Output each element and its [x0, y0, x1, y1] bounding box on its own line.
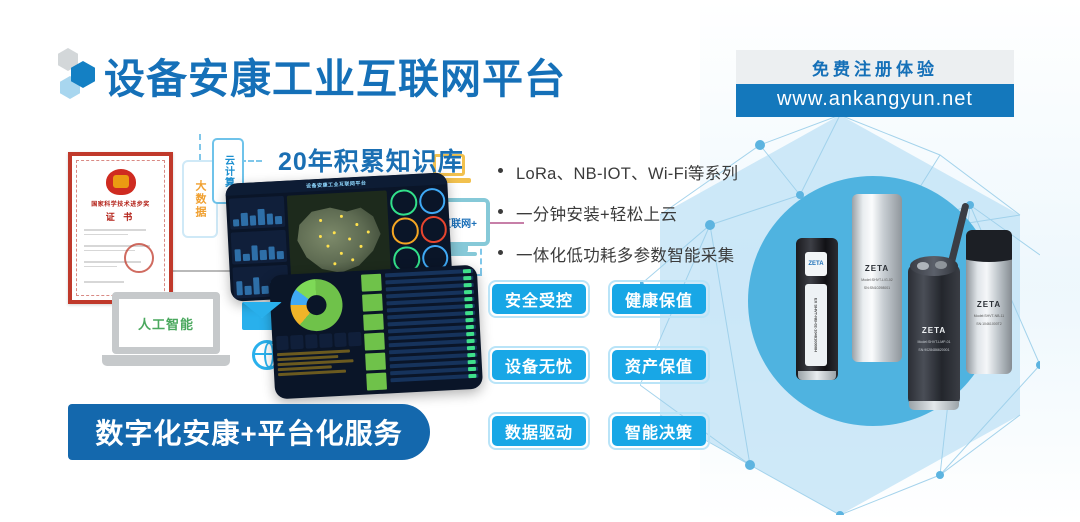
bottom-slogan-label: 数字化安康+平台化服务 — [95, 412, 402, 452]
product-serial: SN:SN10298001 — [864, 286, 890, 290]
product-model: Model:SHVT-LMP-01 — [917, 340, 950, 344]
feature-button-decision[interactable]: 智能决策 — [608, 412, 710, 450]
product-brand: ZETA — [977, 300, 1001, 309]
feature-button-safety[interactable]: 安全受控 — [488, 280, 590, 318]
dashboard-analytics — [269, 265, 483, 400]
laptop-ai: 人工智能 — [102, 292, 230, 380]
bullet-item: 一分钟安装+轻松上云 — [494, 201, 804, 225]
laptop-base — [102, 355, 230, 366]
feature-button-data[interactable]: 数据驱动 — [488, 412, 590, 450]
feature-label: 设备无忧 — [492, 350, 586, 380]
feature-label: 数据驱动 — [492, 416, 586, 446]
website-url[interactable]: www.ankangyun.net — [736, 84, 1014, 117]
register-banner[interactable]: 免费注册体验 www.ankangyun.net — [736, 50, 1014, 117]
feature-bullet-list: LoRa、NB-IOT、Wi-Fi等系列 一分钟安装+轻松上云 一体化低功耗多参… — [494, 160, 804, 283]
product-device-dark-antenna: ZETA Model:SHVT-LMP-01 SN:9028486620001 — [908, 264, 960, 406]
product-brand: ZETA — [865, 264, 889, 273]
product-device-steel-tall: ZETA Model:SHVT-L/G-02 SN:SN10298001 — [852, 194, 902, 362]
product-photo-group: ZETA EX SHVT-NB-02-104810000H ZETA Model… — [780, 180, 1010, 480]
product-device-steel-short: ZETA Model:SHVT-NB-11 SN:10461000T2 — [966, 230, 1012, 374]
product-brand: ZETA — [922, 326, 946, 335]
product-model: Model:SHVT-NB-11 — [974, 314, 1004, 318]
feature-label: 安全受控 — [492, 284, 586, 314]
alarm-log — [277, 349, 363, 378]
bottom-slogan-banner: 数字化安康+平台化服务 — [68, 404, 430, 460]
certificate-subtitle: 证 书 — [77, 210, 164, 223]
analytics-table — [385, 269, 479, 389]
connector-line — [170, 270, 236, 272]
feature-label: 健康保值 — [612, 284, 706, 314]
feature-button-equipment[interactable]: 设备无忧 — [488, 346, 590, 384]
hexagon-cluster-logo — [58, 48, 104, 104]
red-seal-icon — [124, 243, 154, 273]
bullet-item: LoRa、NB-IOT、Wi-Fi等系列 — [494, 160, 804, 184]
register-label: 免费注册体验 — [736, 50, 1014, 84]
dashed-connector — [199, 134, 201, 160]
feature-label: 资产保值 — [612, 350, 706, 380]
poster-canvas: 设备安康工业互联网平台 免费注册体验 www.ankangyun.net 国家科… — [0, 0, 1080, 522]
analytics-left-panel — [273, 275, 363, 395]
dashboard-title: 设备安康工业互联网平台 — [306, 179, 367, 189]
product-device-black: ZETA EX SHVT-NB-02-104810000H — [796, 238, 838, 380]
product-serial: SN:10461000T2 — [976, 322, 1002, 326]
feature-button-asset[interactable]: 资产保值 — [608, 346, 710, 384]
analytics-bar-gauges — [361, 274, 386, 391]
cloud-computing-label: 云计算 — [221, 155, 236, 188]
feature-label: 智能决策 — [612, 416, 706, 446]
big-data-label: 大数据 — [192, 180, 208, 219]
page-title: 设备安康工业互联网平台 — [104, 45, 566, 105]
feature-button-grid: 安全受控 健康保值 设备无忧 资产保值 数据驱动 智能决策 — [488, 280, 738, 478]
hexagon-blue-icon — [71, 61, 95, 88]
ai-label: 人工智能 — [138, 314, 194, 333]
knowledge-base-label: 20年积累知识库 — [278, 142, 464, 178]
feature-button-health[interactable]: 健康保值 — [608, 280, 710, 318]
certificate-title: 国家科学技术进步奖 — [77, 199, 164, 208]
award-certificate: 国家科学技术进步奖 证 书 — [68, 152, 173, 304]
product-model: Model:SHVT-L/G-02 — [861, 278, 893, 282]
bullet-item: 一体化低功耗多参数智能采集 — [494, 242, 804, 266]
national-emblem-icon — [106, 169, 136, 195]
donut-chart — [289, 278, 344, 333]
product-brand: ZETA — [808, 261, 823, 267]
product-serial: SN:9028486620001 — [918, 348, 949, 352]
product-model: EX SHVT-NB-02-104810000H — [814, 298, 819, 352]
